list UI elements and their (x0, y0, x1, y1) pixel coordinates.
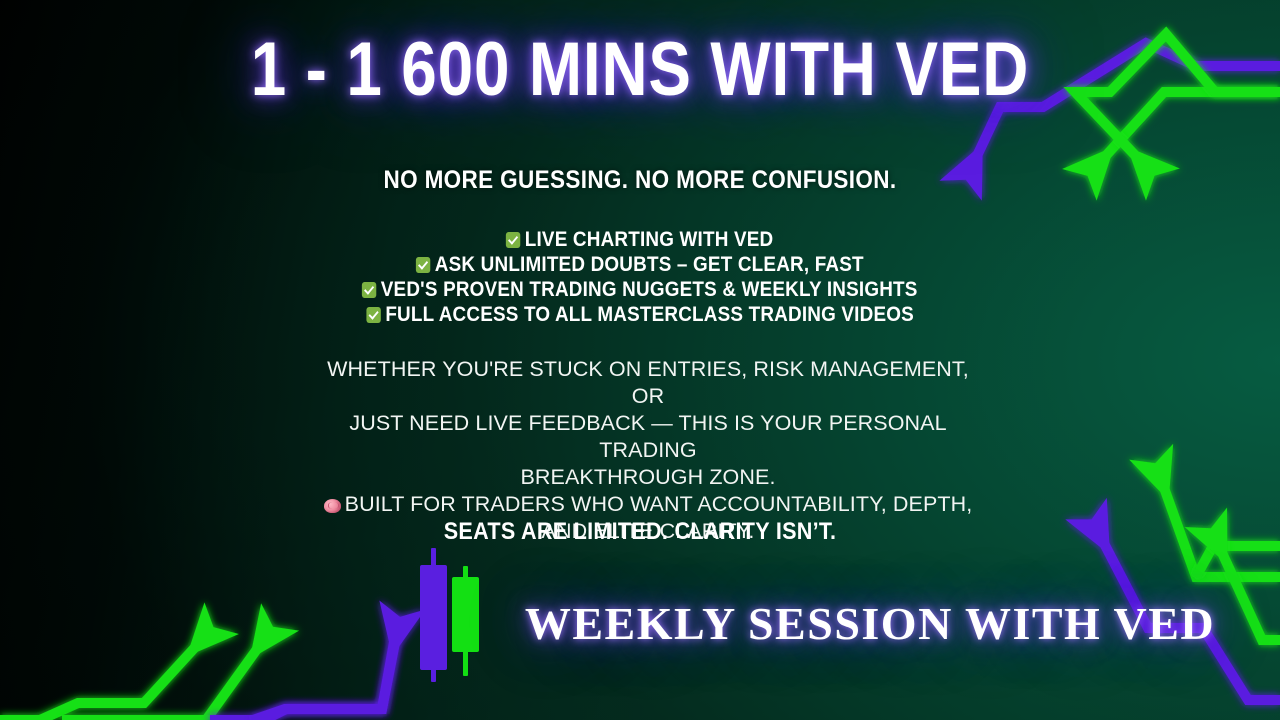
list-item: FULL ACCESS TO ALL MASTERCLASS TRADING V… (0, 303, 1280, 326)
feature-list: LIVE CHARTING WITH VED ASK UNLIMITED DOU… (0, 228, 1280, 328)
scarcity-line: SEATS ARE LIMITED. CLARITY ISN’T. (64, 518, 1216, 546)
check-icon (416, 257, 430, 273)
body-paragraph: WHETHER YOU'RE STUCK ON ENTRIES, RISK MA… (320, 356, 976, 545)
footer-headline: WEEKLY SESSION WITH VED (520, 597, 1220, 650)
list-item-inner: VED'S PROVEN TRADING NUGGETS & WEEKLY IN… (362, 278, 918, 301)
candlestick-bearish (420, 548, 450, 688)
list-item-label: ASK UNLIMITED DOUBTS – GET CLEAR, FAST (435, 253, 864, 276)
list-item-inner: FULL ACCESS TO ALL MASTERCLASS TRADING V… (366, 303, 913, 326)
brain-icon (324, 499, 341, 513)
list-item-label: LIVE CHARTING WITH VED (525, 228, 774, 251)
arrow-purple-bottom-left (210, 620, 398, 720)
poster-canvas: 1 - 1 600 MINS WITH VED NO MORE GUESSING… (0, 0, 1280, 720)
arrow-green-bottom-right-lower (1213, 533, 1280, 640)
subheadline: NO MORE GUESSING. NO MORE CONFUSION. (64, 166, 1216, 195)
list-item-label: VED'S PROVEN TRADING NUGGETS & WEEKLY IN… (381, 278, 918, 301)
list-item: ASK UNLIMITED DOUBTS – GET CLEAR, FAST (0, 253, 1280, 276)
headline-title: 1 - 1 600 MINS WITH VED (102, 26, 1177, 113)
check-icon (366, 307, 380, 323)
candlestick-bullish (452, 566, 482, 678)
paragraph-line-4: BUILT FOR TRADERS WHO WANT ACCOUNTABILIT… (320, 491, 976, 518)
paragraph-line-1: WHETHER YOU'RE STUCK ON ENTRIES, RISK MA… (320, 356, 976, 410)
paragraph-line-2: JUST NEED LIVE FEEDBACK — THIS IS YOUR P… (320, 410, 976, 464)
list-item: LIVE CHARTING WITH VED (0, 228, 1280, 251)
check-icon (506, 232, 520, 248)
list-item: VED'S PROVEN TRADING NUGGETS & WEEKLY IN… (0, 278, 1280, 301)
paragraph-line-3: BREAKTHROUGH ZONE. (320, 464, 976, 491)
list-item-inner: ASK UNLIMITED DOUBTS – GET CLEAR, FAST (416, 253, 864, 276)
candlestick-bearish-body (420, 565, 447, 670)
list-item-label: FULL ACCESS TO ALL MASTERCLASS TRADING V… (385, 303, 914, 326)
arrow-green-bottom-right-upper-tail (1196, 546, 1280, 577)
paragraph-line-4-text: BUILT FOR TRADERS WHO WANT ACCOUNTABILIT… (345, 492, 973, 516)
arrow-green-bottom-left-2 (62, 631, 270, 720)
list-item-inner: LIVE CHARTING WITH VED (506, 228, 774, 251)
check-icon (362, 282, 376, 298)
candlestick-bullish-body (452, 577, 479, 652)
arrow-purple-bottom-left-head (253, 622, 399, 720)
arrow-green-bottom-left-1 (0, 631, 210, 720)
